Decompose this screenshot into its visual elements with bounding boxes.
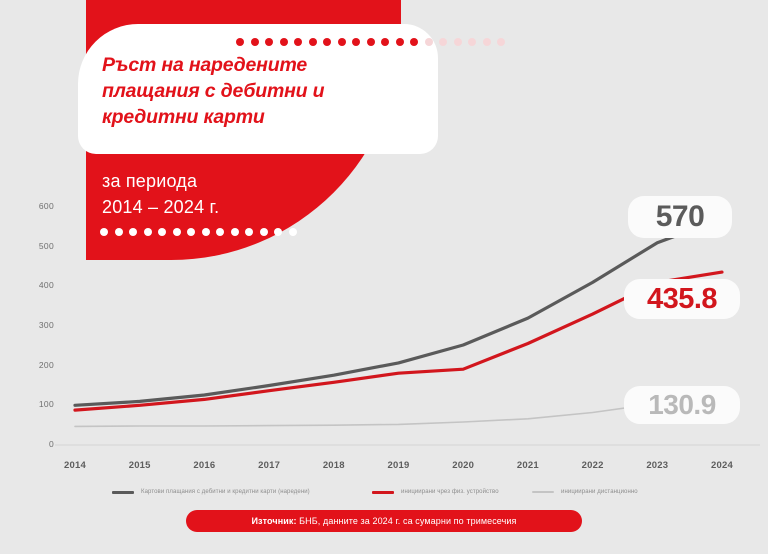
dot-icon xyxy=(265,38,273,46)
dot-icon xyxy=(173,228,181,236)
dot-icon xyxy=(396,38,404,46)
callout-physical-value: 435.8 xyxy=(624,279,740,319)
callout-remote-text: 130.9 xyxy=(648,389,716,421)
dot-icon xyxy=(439,38,447,46)
dot-icon xyxy=(251,38,259,46)
dot-icon xyxy=(280,38,288,46)
x-tick-label: 2021 xyxy=(505,460,551,471)
dot-icon xyxy=(323,38,331,46)
x-tick-label: 2019 xyxy=(376,460,422,471)
dot-icon xyxy=(468,38,476,46)
y-tick-label: 300 xyxy=(20,320,54,330)
x-tick-label: 2023 xyxy=(634,460,680,471)
legend-item: Картови плащания с дебитни и кредитни ка… xyxy=(112,489,310,495)
source-text: Източник: БНБ, данните за 2024 г. са сум… xyxy=(251,516,516,526)
dot-icon xyxy=(483,38,491,46)
y-tick-label: 200 xyxy=(20,360,54,370)
dot-icon xyxy=(187,228,195,236)
x-tick-label: 2017 xyxy=(246,460,292,471)
x-tick-label: 2018 xyxy=(311,460,357,471)
dot-icon xyxy=(454,38,462,46)
y-tick-label: 0 xyxy=(20,439,54,449)
page-subtitle: за периода 2014 – 2024 г. xyxy=(102,168,362,220)
source-body: БНБ, данните за 2024 г. са сумарни по тр… xyxy=(297,516,517,526)
subtitle-line-1: за периода xyxy=(102,168,362,194)
dot-icon xyxy=(309,38,317,46)
callout-total-value: 570 xyxy=(628,196,732,238)
source-badge: Източник: БНБ, данните за 2024 г. са сум… xyxy=(186,510,582,532)
legend-swatch-icon xyxy=(112,491,134,494)
dot-icon xyxy=(381,38,389,46)
legend-swatch-icon xyxy=(532,491,554,493)
x-tick-label: 2022 xyxy=(570,460,616,471)
dot-icon xyxy=(202,228,210,236)
x-tick-label: 2015 xyxy=(117,460,163,471)
legend-label: Картови плащания с дебитни и кредитни ка… xyxy=(141,489,310,495)
legend-label: инициирани дистанционно xyxy=(561,489,638,495)
legend-item: инициирани чрез физ. устройство xyxy=(372,489,499,495)
dot-icon xyxy=(338,38,346,46)
y-tick-label: 100 xyxy=(20,399,54,409)
page-title: Ръст на наредените плащания с дебитни и … xyxy=(102,52,422,130)
title-line-3: кредитни карти xyxy=(102,104,422,130)
dot-icon xyxy=(410,38,418,46)
x-tick-label: 2024 xyxy=(699,460,745,471)
callout-total-text: 570 xyxy=(656,200,705,234)
legend-item: инициирани дистанционно xyxy=(532,489,638,495)
dot-icon xyxy=(100,228,108,236)
legend-swatch-icon xyxy=(372,491,394,494)
x-tick-label: 2014 xyxy=(52,460,98,471)
chart-legend: Картови плащания с дебитни и кредитни ка… xyxy=(0,484,768,500)
source-prefix: Източник: xyxy=(251,516,296,526)
dot-icon xyxy=(158,228,166,236)
dot-icon xyxy=(294,38,302,46)
x-tick-label: 2016 xyxy=(181,460,227,471)
y-tick-label: 600 xyxy=(20,201,54,211)
title-line-1: Ръст на наредените xyxy=(102,52,422,78)
dot-icon xyxy=(352,38,360,46)
subtitle-line-2: 2014 – 2024 г. xyxy=(102,194,362,220)
dot-icon xyxy=(425,38,433,46)
dot-icon xyxy=(231,228,239,236)
dot-icon xyxy=(289,228,297,236)
dot-icon xyxy=(144,228,152,236)
dot-icon xyxy=(260,228,268,236)
callout-physical-text: 435.8 xyxy=(647,283,717,316)
callout-remote-value: 130.9 xyxy=(624,386,740,424)
dot-icon xyxy=(129,228,137,236)
decorative-dots-top xyxy=(236,38,505,46)
y-tick-label: 500 xyxy=(20,241,54,251)
infographic-root: 0100200300400500600 20142015201620172018… xyxy=(0,0,768,554)
dot-icon xyxy=(216,228,224,236)
y-tick-label: 400 xyxy=(20,280,54,290)
legend-label: инициирани чрез физ. устройство xyxy=(401,489,499,495)
dot-icon xyxy=(497,38,505,46)
x-tick-label: 2020 xyxy=(440,460,486,471)
dot-icon xyxy=(245,228,253,236)
dot-icon xyxy=(367,38,375,46)
dot-icon xyxy=(115,228,123,236)
title-line-2: плащания с дебитни и xyxy=(102,78,422,104)
dot-icon xyxy=(236,38,244,46)
decorative-dots-bottom xyxy=(100,228,297,236)
dot-icon xyxy=(274,228,282,236)
